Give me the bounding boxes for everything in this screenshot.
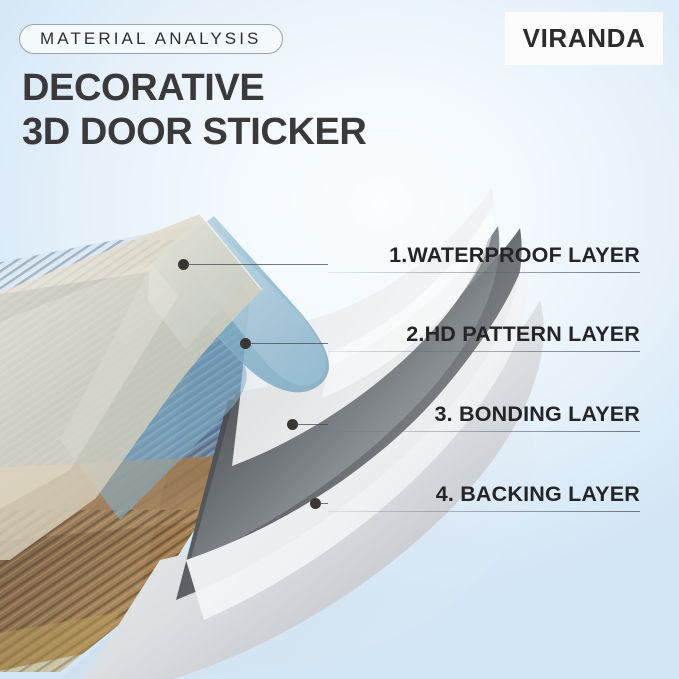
page-title: DECORATIVE 3D DOOR STICKER (22, 66, 366, 154)
callout-rule-backing-layer (328, 511, 640, 512)
title-line-1: DECORATIVE (22, 67, 264, 109)
brand-logo-box: VIRANDA (505, 12, 663, 65)
callout-leader-hd-pattern-layer (249, 343, 328, 344)
callout-leader-waterproof-layer (187, 264, 328, 265)
callout-label-bonding-layer: 3. BONDING LAYER (328, 402, 640, 431)
title-line-2: 3D DOOR STICKER (22, 110, 366, 154)
callout-label-backing-layer: 4. BACKING LAYER (328, 482, 640, 511)
callout-rule-hd-pattern-layer (328, 351, 640, 352)
badge-label: MATERIAL ANALYSIS (40, 29, 262, 49)
material-analysis-badge: MATERIAL ANALYSIS (19, 24, 283, 54)
callout-waterproof-layer: 1.WATERPROOF LAYER (328, 243, 640, 273)
callout-backing-layer: 4. BACKING LAYER (328, 482, 640, 512)
callout-label-hd-pattern-layer: 2.HD PATTERN LAYER (328, 322, 640, 351)
callout-rule-bonding-layer (328, 431, 640, 432)
callout-label-waterproof-layer: 1.WATERPROOF LAYER (328, 243, 640, 272)
callout-bonding-layer: 3. BONDING LAYER (328, 402, 640, 432)
callout-leader-backing-layer (319, 503, 328, 504)
brand-name: VIRANDA (523, 23, 646, 54)
callout-leader-bonding-layer (296, 424, 328, 425)
poster-canvas: MATERIAL ANALYSIS DECORATIVE 3D DOOR STI… (0, 0, 679, 679)
callout-rule-waterproof-layer (328, 272, 640, 273)
callout-hd-pattern-layer: 2.HD PATTERN LAYER (328, 322, 640, 352)
